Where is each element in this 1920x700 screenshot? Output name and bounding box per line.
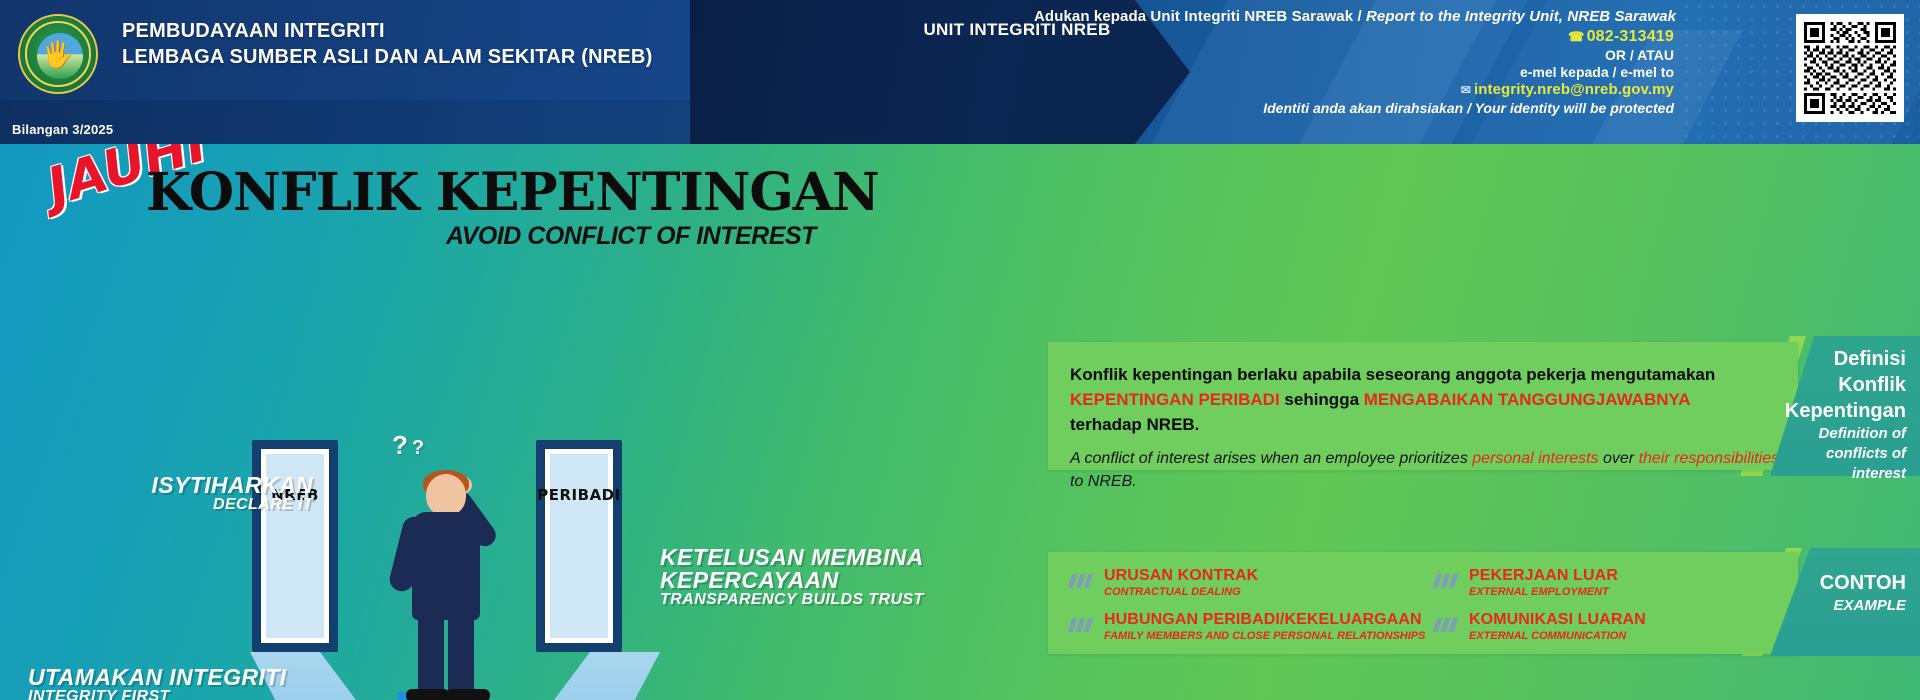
door-label-peribadi: PERIBADI xyxy=(536,486,622,504)
definition-connector-word: sehingga xyxy=(1280,390,1364,409)
door-peribadi: PERIBADI xyxy=(536,440,622,652)
tab-example-ms: CONTOH xyxy=(1770,570,1906,596)
panel-example: URUSAN KONTRAK CONTRACTUAL DEALING PEKER… xyxy=(1048,552,1798,654)
tab-definition-en-line2: conflicts of xyxy=(1770,444,1906,464)
report-separator: / xyxy=(1353,8,1366,25)
example-item-en: CONTRACTUAL DEALING xyxy=(1104,585,1435,600)
tab-definition-ms-line1: Definisi xyxy=(1770,346,1906,372)
tab-definition-ms-line3: Kepentingan xyxy=(1770,398,1906,424)
definition-highlight-1: KEPENTINGAN PERIBADI xyxy=(1070,390,1280,409)
report-line: Adukan kepada Unit Integriti NREB Sarawa… xyxy=(1034,8,1674,25)
envelope-icon: ✉ xyxy=(1461,83,1471,97)
label-transparency-ms-line1: KETELUSAN MEMBINA xyxy=(660,546,950,569)
example-item: URUSAN KONTRAK CONTRACTUAL DEALING xyxy=(1070,566,1435,610)
label-integrity-ms: UTAMAKAN INTEGRITI xyxy=(28,666,288,689)
person-leg-right xyxy=(448,614,474,696)
organisation-title-line1: PEMBUDAYAAN INTEGRITI xyxy=(122,18,652,44)
question-marks: ?? xyxy=(392,430,428,461)
label-declare-en: DECLARE IT xyxy=(108,497,313,513)
definition-ms-line2: KEPENTINGAN PERIBADI sehingga MENGABAIKA… xyxy=(1070,387,1780,412)
report-label-en: Report to the Integrity Unit, NREB Saraw… xyxy=(1366,8,1676,25)
email-address: integrity.nreb@nreb.gov.my xyxy=(1474,81,1674,98)
panel-definition-text: Konflik kepentingan berlaku apabila sese… xyxy=(1070,362,1780,493)
question-mark-large: ? xyxy=(392,430,412,460)
email-line[interactable]: ✉integrity.nreb@nreb.gov.my xyxy=(1034,81,1674,98)
example-item-ms: PEKERJAAN LUAR xyxy=(1469,566,1780,585)
person-head xyxy=(426,474,466,516)
poster-body: JAUHI KONFLIK KEPENTINGAN AVOID CONFLICT… xyxy=(0,144,1920,700)
example-item: HUBUNGAN PERIBADI/KEKELUARGAAN FAMILY ME… xyxy=(1070,610,1435,654)
person-leg-left xyxy=(418,614,444,696)
confidentiality-note: Identiti anda akan dirahsiakan / Your id… xyxy=(1034,100,1674,116)
example-item-ms: HUBUNGAN PERIBADI/KEKELUARGAAN xyxy=(1104,610,1435,629)
page-subtitle: AVOID CONFLICT OF INTEREST xyxy=(446,222,816,251)
definition-en-part2: over xyxy=(1599,450,1639,467)
person-illustration xyxy=(390,474,510,700)
question-mark-small: ? xyxy=(412,437,428,459)
person-shoe-left xyxy=(406,689,450,700)
tab-definition-en-line3: interest xyxy=(1770,464,1906,484)
example-item-ms: KOMUNIKASI LUARAN xyxy=(1469,610,1780,629)
page-title: KONFLIK KEPENTINGAN xyxy=(146,162,879,223)
label-declare-it: ISYTIHARKAN DECLARE IT xyxy=(108,474,313,513)
example-item: PEKERJAAN LUAR EXTERNAL EMPLOYMENT xyxy=(1435,566,1780,610)
bars-icon xyxy=(1070,618,1096,632)
nreb-logo: 🖐 xyxy=(18,14,98,94)
definition-ms-line1: Konflik kepentingan berlaku apabila sese… xyxy=(1070,362,1780,387)
example-item-en: EXTERNAL COMMUNICATION xyxy=(1469,629,1780,644)
definition-en-part3: to NREB. xyxy=(1070,473,1137,490)
label-transparency: KETELUSAN MEMBINA KEPERCAYAAN TRANSPAREN… xyxy=(660,546,950,608)
label-integrity-first: UTAMAKAN INTEGRITI INTEGRITY FIRST xyxy=(28,666,288,700)
page-header: 🖐 PEMBUDAYAAN INTEGRITI LEMBAGA SUMBER A… xyxy=(0,0,1920,144)
bars-icon xyxy=(1070,574,1096,588)
definition-en-highlight-2: their responsibilities xyxy=(1639,450,1780,467)
organisation-title-line2: LEMBAGA SUMBER ASLI DAN ALAM SEKITAR (NR… xyxy=(122,44,652,70)
issue-number: Bilangan 3/2025 xyxy=(12,122,113,137)
poster-root: 🖐 PEMBUDAYAAN INTEGRITI LEMBAGA SUMBER A… xyxy=(0,0,1920,700)
contact-block: Adukan kepada Unit Integriti NREB Sarawa… xyxy=(1034,8,1674,116)
phone-line[interactable]: ☎082-313419 xyxy=(1034,28,1674,46)
tab-example-en: EXAMPLE xyxy=(1770,596,1906,616)
definition-en-part1: A conflict of interest arises when an em… xyxy=(1070,450,1472,467)
example-item-en: FAMILY MEMBERS AND CLOSE PERSONAL RELATI… xyxy=(1104,629,1435,644)
phone-number: 082-313419 xyxy=(1587,28,1674,45)
email-prompt: e-mel kepada / e-mel to xyxy=(1034,64,1674,80)
tab-example-text: CONTOH EXAMPLE xyxy=(1770,548,1920,616)
label-transparency-en: TRANSPARENCY BUILDS TRUST xyxy=(660,592,950,608)
qr-code-svg xyxy=(1801,19,1899,117)
definition-en: A conflict of interest arises when an em… xyxy=(1070,447,1780,493)
definition-en-highlight-1: personal interests xyxy=(1472,450,1598,467)
label-integrity-en: INTEGRITY FIRST xyxy=(28,689,288,700)
tab-example: CONTOH EXAMPLE xyxy=(1770,548,1920,656)
person-shoe-right xyxy=(446,689,490,700)
or-separator: OR / ATAU xyxy=(1034,47,1674,63)
tab-definition: Definisi Konflik Kepentingan Definition … xyxy=(1770,336,1920,476)
example-grid: URUSAN KONTRAK CONTRACTUAL DEALING PEKER… xyxy=(1070,566,1780,654)
label-transparency-ms-line2: KEPERCAYAAN xyxy=(660,569,950,592)
tab-definition-en-line1: Definition of xyxy=(1770,424,1906,444)
phone-icon: ☎ xyxy=(1568,29,1584,44)
definition-ms-line3: terhadap NREB. xyxy=(1070,412,1780,437)
door-panel xyxy=(545,449,613,643)
illustration-area: JAUHI KONFLIK KEPENTINGAN AVOID CONFLICT… xyxy=(0,144,1010,700)
bars-icon xyxy=(1435,574,1461,588)
definition-highlight-2: MENGABAIKAN TANGGUNGJAWABNYA xyxy=(1364,390,1691,409)
bars-icon xyxy=(1435,618,1461,632)
qr-code[interactable] xyxy=(1796,14,1904,122)
tab-definition-ms-line2: Konflik xyxy=(1770,372,1906,398)
organisation-title: PEMBUDAYAAN INTEGRITI LEMBAGA SUMBER ASL… xyxy=(122,18,652,70)
panel-definition: Konflik kepentingan berlaku apabila sese… xyxy=(1048,342,1798,470)
example-item-ms: URUSAN KONTRAK xyxy=(1104,566,1435,585)
hands-icon: 🖐 xyxy=(42,41,74,67)
example-item-en: EXTERNAL EMPLOYMENT xyxy=(1469,585,1780,600)
label-declare-ms: ISYTIHARKAN xyxy=(108,474,313,497)
report-label-ms: Adukan kepada Unit Integriti NREB Sarawa… xyxy=(1034,8,1353,25)
example-item: KOMUNIKASI LUARAN EXTERNAL COMMUNICATION xyxy=(1435,610,1780,654)
tab-definition-text: Definisi Konflik Kepentingan Definition … xyxy=(1770,336,1920,484)
